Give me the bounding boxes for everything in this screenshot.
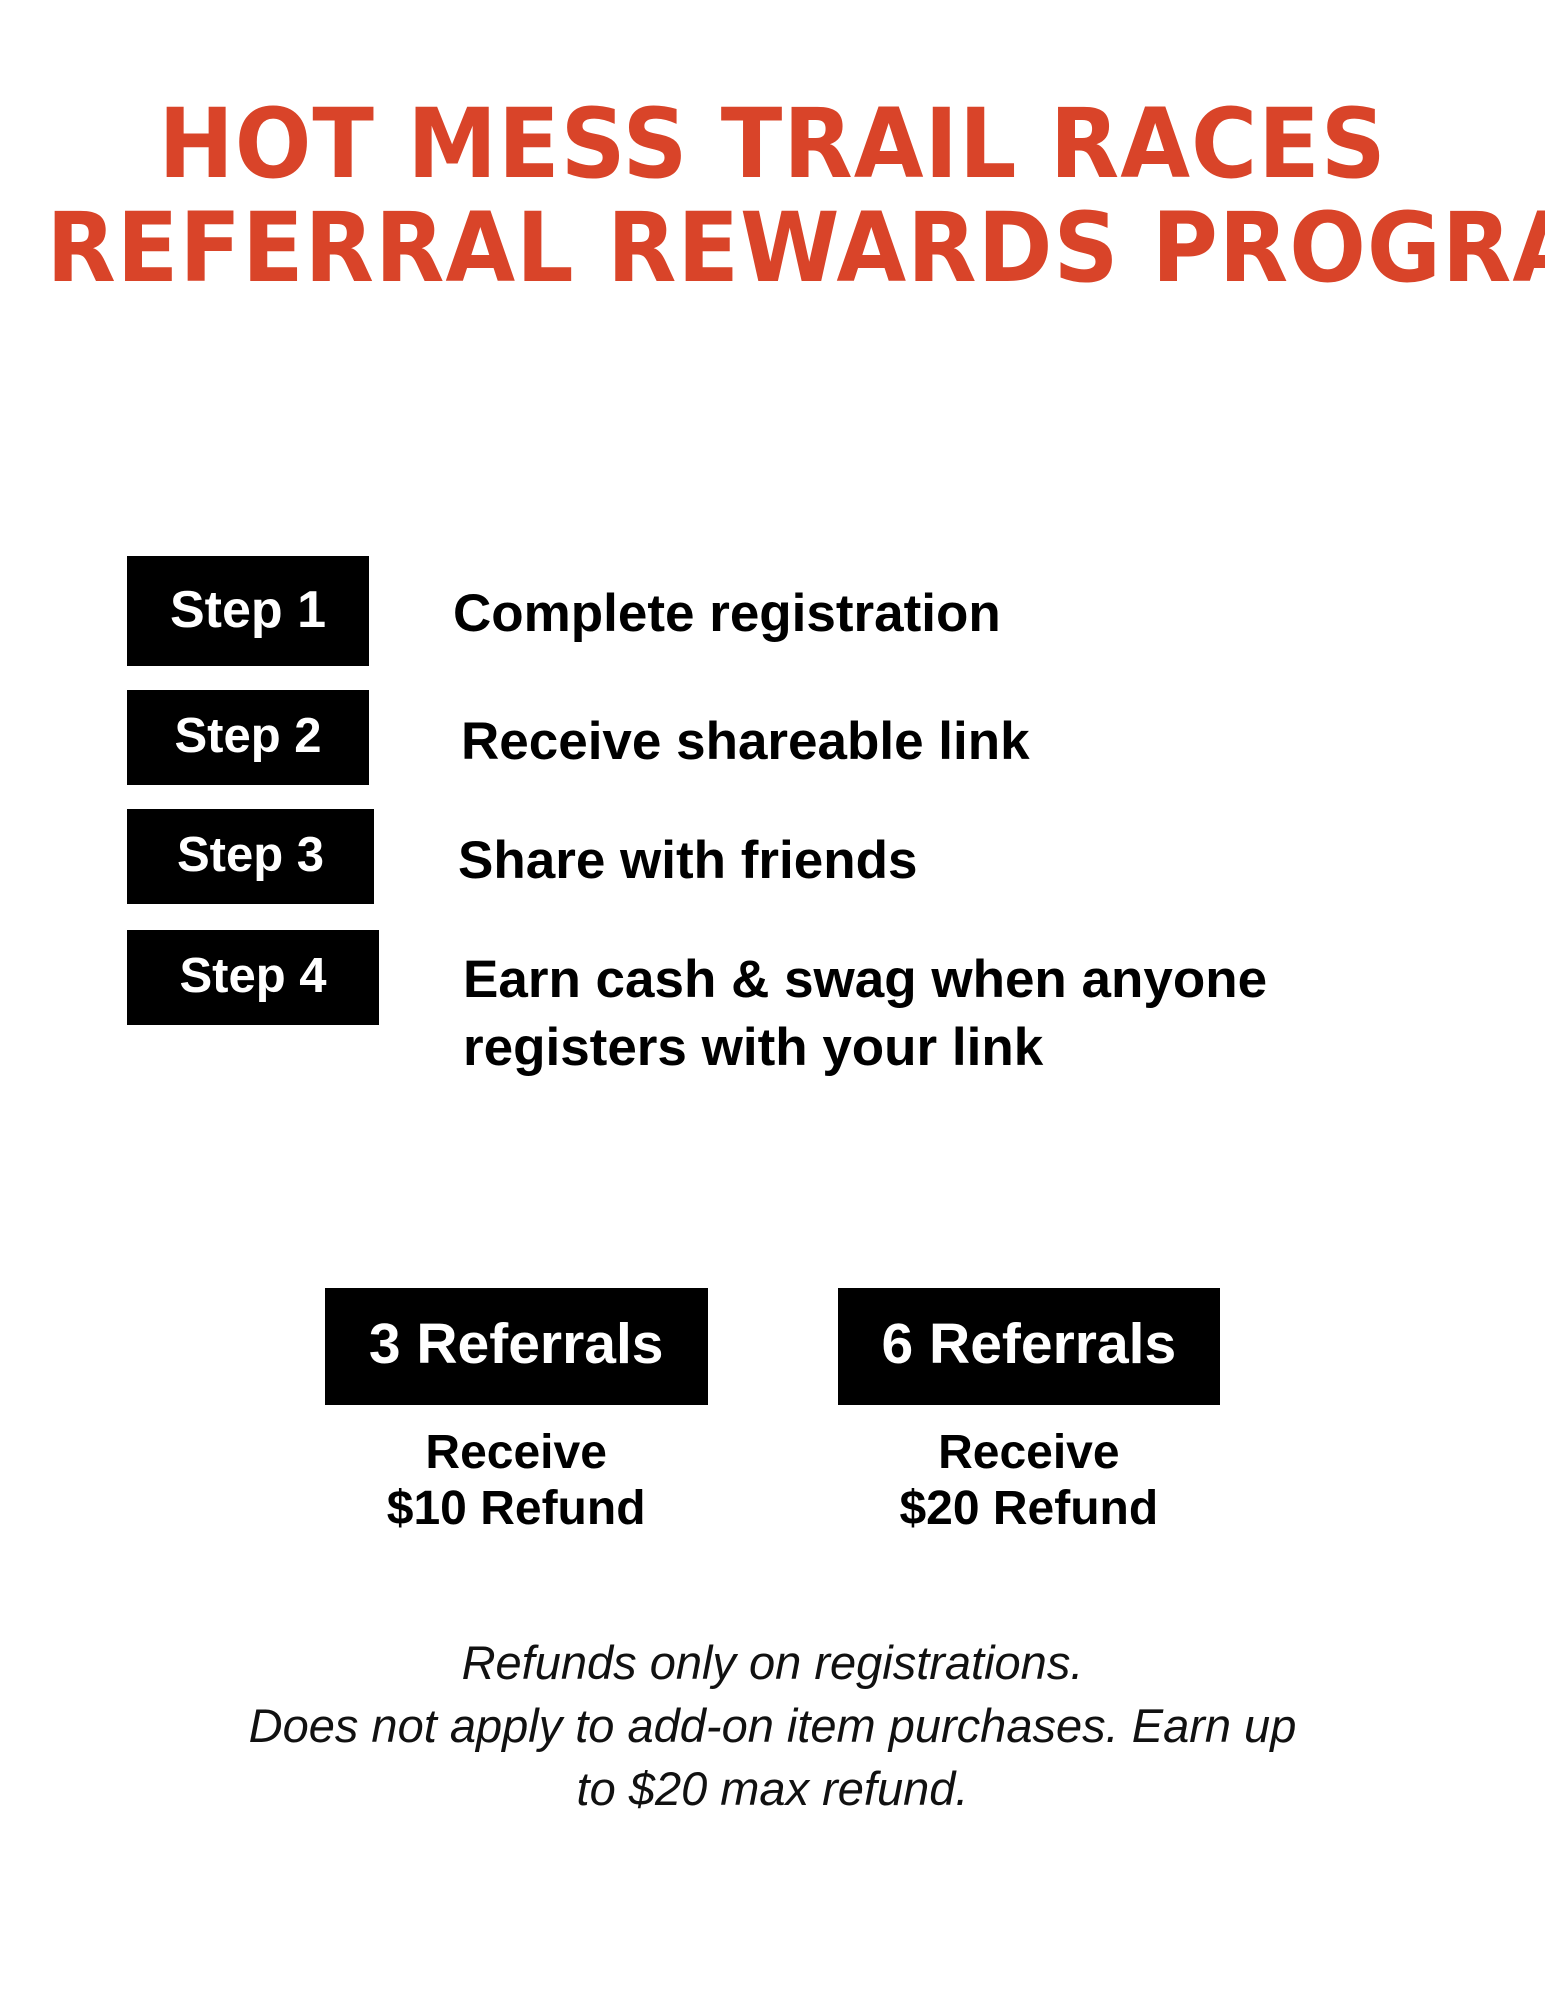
step-badge-2: Step 2 [127, 690, 369, 785]
steps-list: Step 1 Complete registration Step 2 Rece… [0, 556, 1545, 1082]
tier-reward-6-line-2: $20 Refund [838, 1481, 1221, 1537]
step-text-4-line-2: registers with your link [463, 1018, 1043, 1077]
reward-tier-6-referrals: 6 Referrals Receive $20 Refund [838, 1288, 1221, 1536]
referral-program-poster: HOT MESS TRAIL RACES REFERRAL REWARDS PR… [0, 0, 1545, 2000]
title-line-2: REFERRAL REWARDS PROGRAM [46, 200, 1498, 298]
tier-badge-3-referrals: 3 Referrals [325, 1288, 708, 1405]
step-text-4-line-1: Earn cash & swag when anyone [463, 950, 1267, 1009]
tier-reward-6-referrals: Receive $20 Refund [838, 1425, 1221, 1536]
step-row-1: Step 1 Complete registration [0, 556, 1545, 666]
disclaimer-text: Refunds only on registrations. Does not … [0, 1632, 1545, 1821]
disclaimer-line-1: Refunds only on registrations. [0, 1632, 1545, 1695]
step-row-2: Step 2 Receive shareable link [0, 690, 1545, 785]
disclaimer-line-3: to $20 max refund. [0, 1758, 1545, 1821]
step-text-2: Receive shareable link [461, 690, 1030, 776]
step-badge-1: Step 1 [127, 556, 369, 666]
step-text-3: Share with friends [458, 809, 917, 895]
tier-reward-6-line-1: Receive [838, 1425, 1221, 1481]
tier-reward-3-line-1: Receive [325, 1425, 708, 1481]
tier-badge-6-referrals: 6 Referrals [838, 1288, 1221, 1405]
tier-reward-3-referrals: Receive $10 Refund [325, 1425, 708, 1536]
step-row-3: Step 3 Share with friends [0, 809, 1545, 904]
step-text-1: Complete registration [453, 556, 1001, 648]
reward-tiers: 3 Referrals Receive $10 Refund 6 Referra… [0, 1288, 1545, 1536]
title-line-1: HOT MESS TRAIL RACES [46, 96, 1498, 194]
tier-reward-3-line-2: $10 Refund [325, 1481, 708, 1537]
step-row-4: Step 4 Earn cash & swag when anyone regi… [0, 930, 1545, 1082]
disclaimer-line-2: Does not apply to add-on item purchases.… [0, 1695, 1545, 1758]
poster-title: HOT MESS TRAIL RACES REFERRAL REWARDS PR… [0, 96, 1545, 298]
reward-tier-3-referrals: 3 Referrals Receive $10 Refund [325, 1288, 708, 1536]
step-text-4: Earn cash & swag when anyone registers w… [463, 930, 1463, 1082]
step-badge-4: Step 4 [127, 930, 379, 1025]
step-badge-3: Step 3 [127, 809, 374, 904]
